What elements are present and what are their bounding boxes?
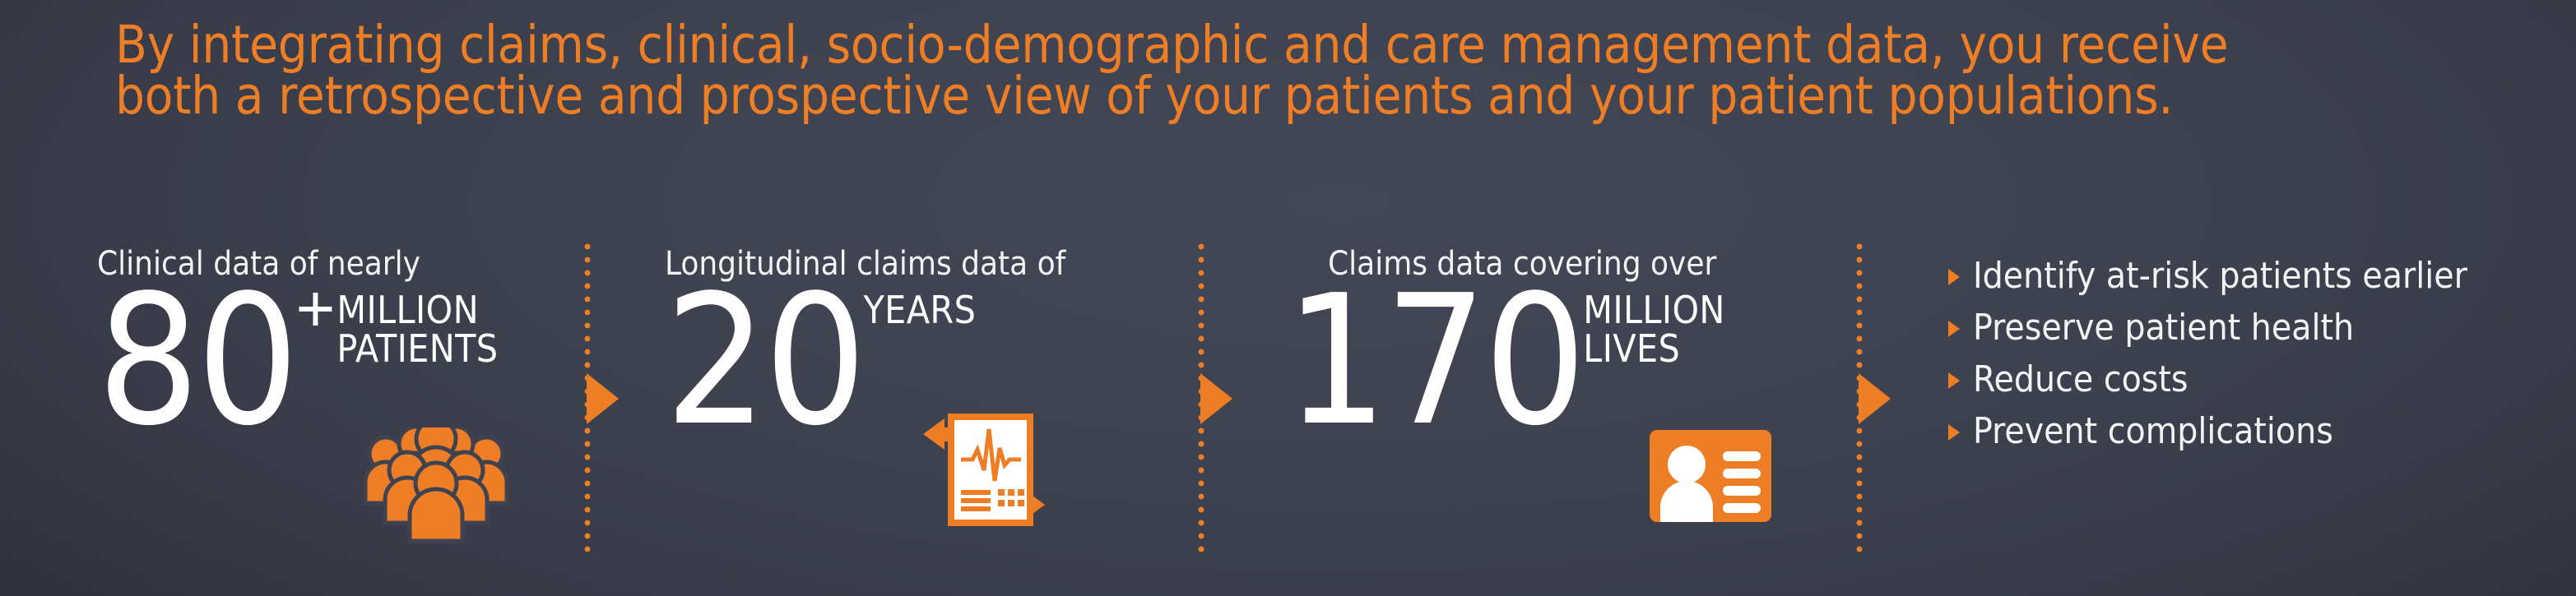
section-divider-3 [1856, 243, 1863, 554]
stat-value: 80 [97, 276, 296, 447]
triangle-bullet-icon [1948, 269, 1960, 285]
section-divider-1 [584, 243, 591, 554]
list-item: Identify at-risk patients earlier [1948, 256, 2541, 296]
medical-record-document-icon [912, 411, 1056, 543]
stat-value: 20 [665, 276, 864, 447]
triangle-bullet-icon [1948, 372, 1960, 389]
triangle-bullet-icon [1948, 424, 1960, 441]
stat-unit-line-1: MILLION [337, 288, 479, 332]
section-divider-2 [1198, 243, 1204, 554]
arrow-right-icon [1859, 373, 1891, 424]
arrow-right-icon [1200, 373, 1232, 424]
list-item: Prevent complications [1948, 412, 2541, 451]
list-item-label: Identify at-risk patients earlier [1973, 256, 2467, 296]
list-item-label: Reduce costs [1973, 360, 2188, 400]
list-item: Preserve patient health [1948, 308, 2541, 348]
stat-unit-line-2: PATIENTS [337, 330, 498, 368]
infographic-banner: By integrating claims, clinical, socio-d… [0, 0, 2576, 596]
list-item-label: Preserve patient health [1973, 308, 2354, 348]
benefits-list: Identify at-risk patients earlier Preser… [1948, 256, 2541, 464]
stat-unit-line-2: LIVES [1583, 330, 1725, 368]
triangle-bullet-icon [1948, 321, 1960, 337]
crowd-of-people-icon [362, 427, 510, 548]
headline: By integrating claims, clinical, socio-d… [115, 20, 2485, 122]
list-item-label: Prevent complications [1973, 412, 2333, 451]
list-item: Reduce costs [1948, 360, 2541, 400]
stat-unit-line-1: YEARS [864, 288, 977, 332]
id-card-icon [1649, 429, 1772, 529]
headline-line-1: By integrating claims, clinical, socio-d… [115, 20, 2485, 71]
stat-value: 170 [1285, 276, 1583, 447]
headline-line-2: both a retrospective and prospective vie… [115, 71, 2485, 122]
stat-unit-line-1: MILLION [1583, 288, 1725, 332]
arrow-right-icon [587, 373, 619, 424]
stat-suffix-plus: + [296, 286, 336, 332]
